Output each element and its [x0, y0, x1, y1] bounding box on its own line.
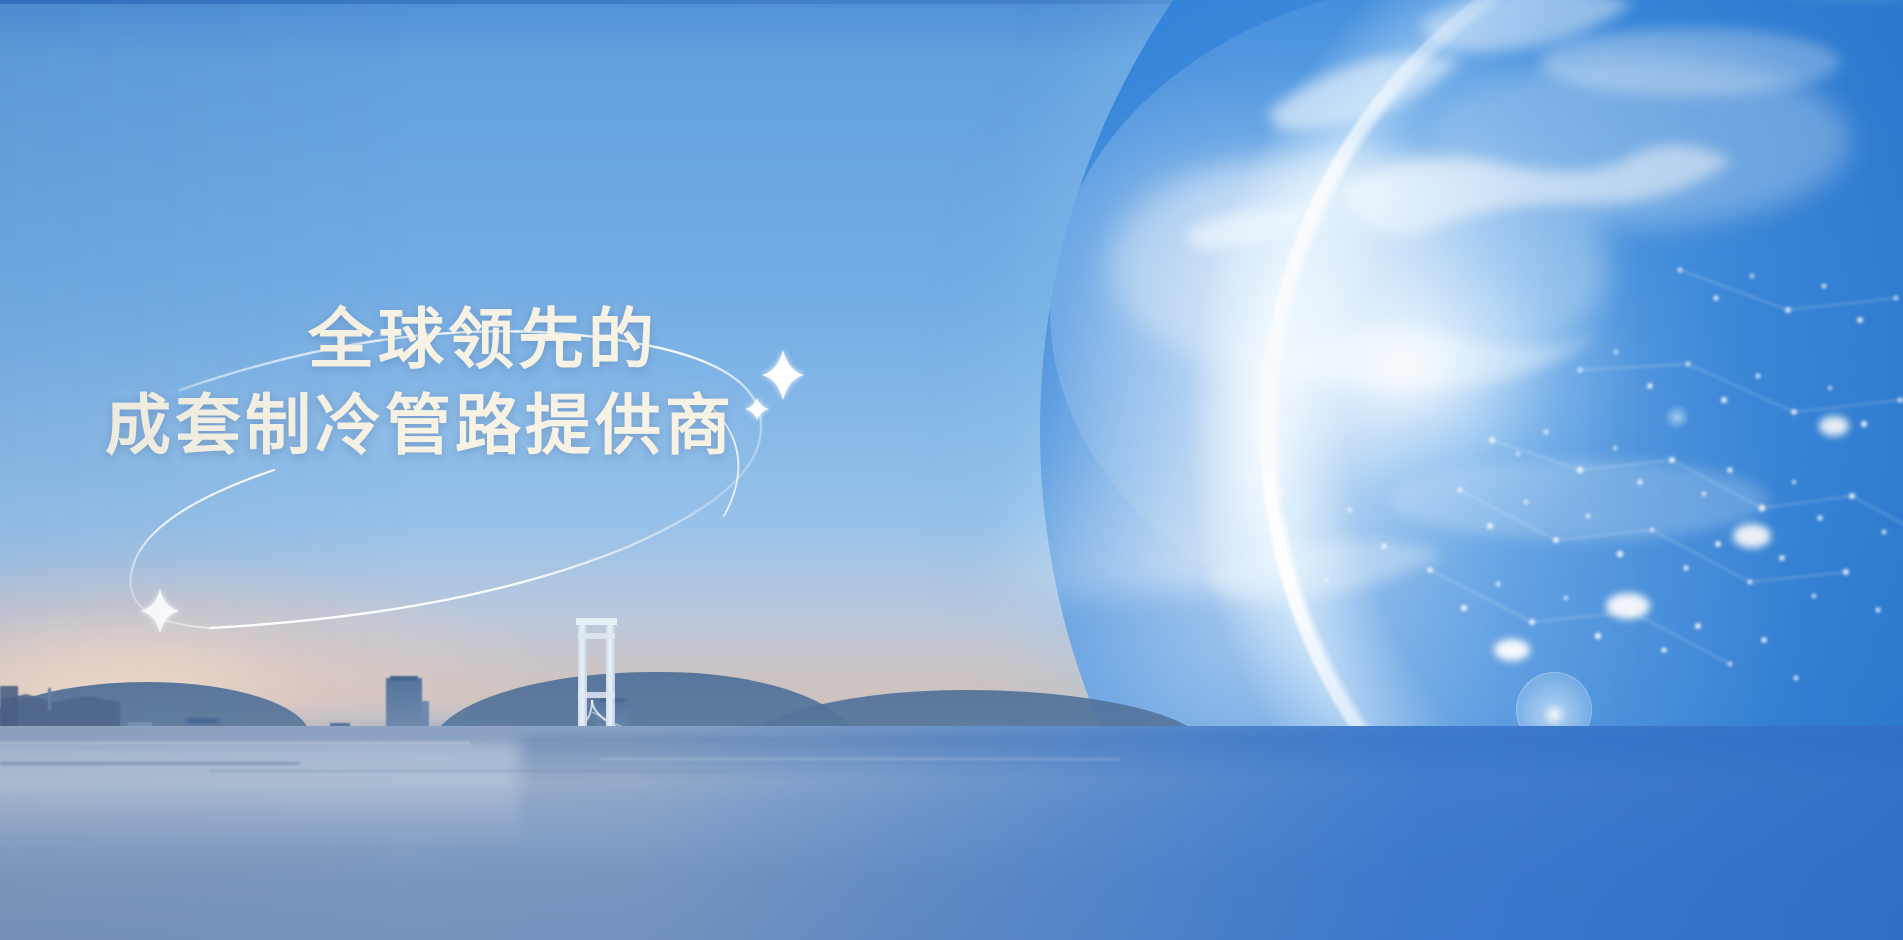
water-streak [600, 758, 1120, 760]
water-streak [210, 770, 730, 772]
water-streak [0, 742, 470, 744]
water-streak [0, 762, 300, 765]
top-rule [0, 0, 1903, 4]
hero-banner: 全球领先的 成套制冷管路提供商 [0, 0, 1903, 940]
